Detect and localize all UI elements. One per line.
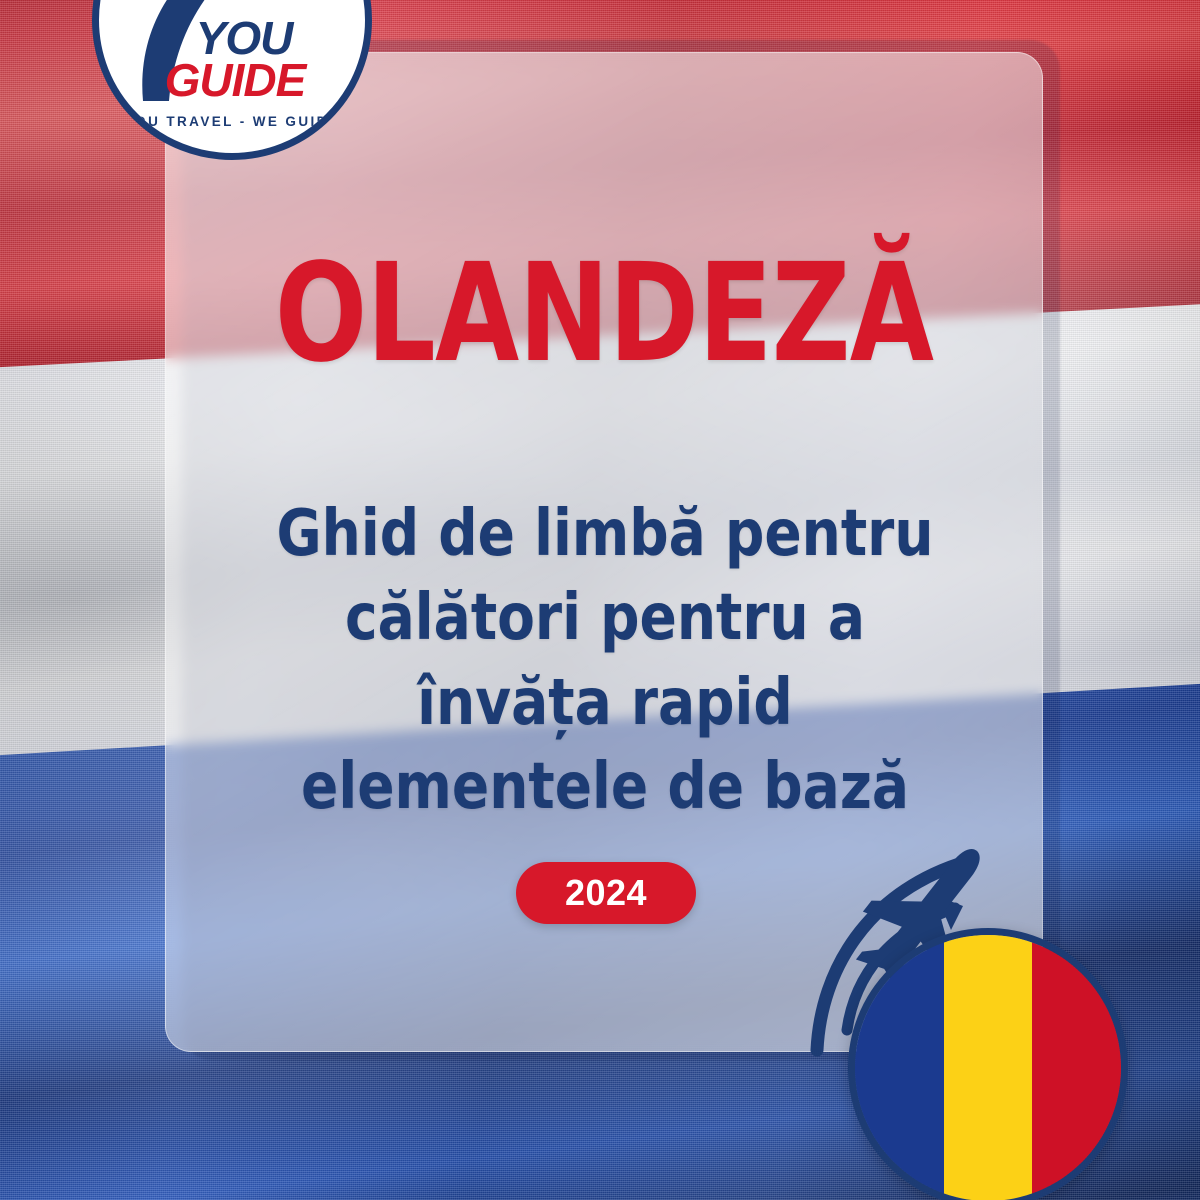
year-badge: 2024: [516, 862, 696, 924]
youguide-logo[interactable]: YOU GUIDE YOU TRAVEL - WE GUIDE: [92, 0, 372, 160]
romania-flag-badge: [848, 928, 1128, 1200]
logo-tagline: YOU TRAVEL - WE GUIDE: [99, 115, 365, 129]
year-label: 2024: [565, 872, 647, 914]
page-title: OLANDEZĂ: [253, 246, 955, 382]
logo-guide-text: GUIDE: [105, 57, 365, 103]
page-subtitle: Ghid de limbă pentru călători pentru a î…: [261, 492, 949, 830]
poster: OLANDEZĂ Ghid de limbă pentru călători p…: [0, 0, 1200, 1200]
romania-stripe-yellow: [944, 935, 1033, 1200]
logo-wordmark: YOU GUIDE YOU TRAVEL - WE GUIDE: [99, 15, 365, 129]
